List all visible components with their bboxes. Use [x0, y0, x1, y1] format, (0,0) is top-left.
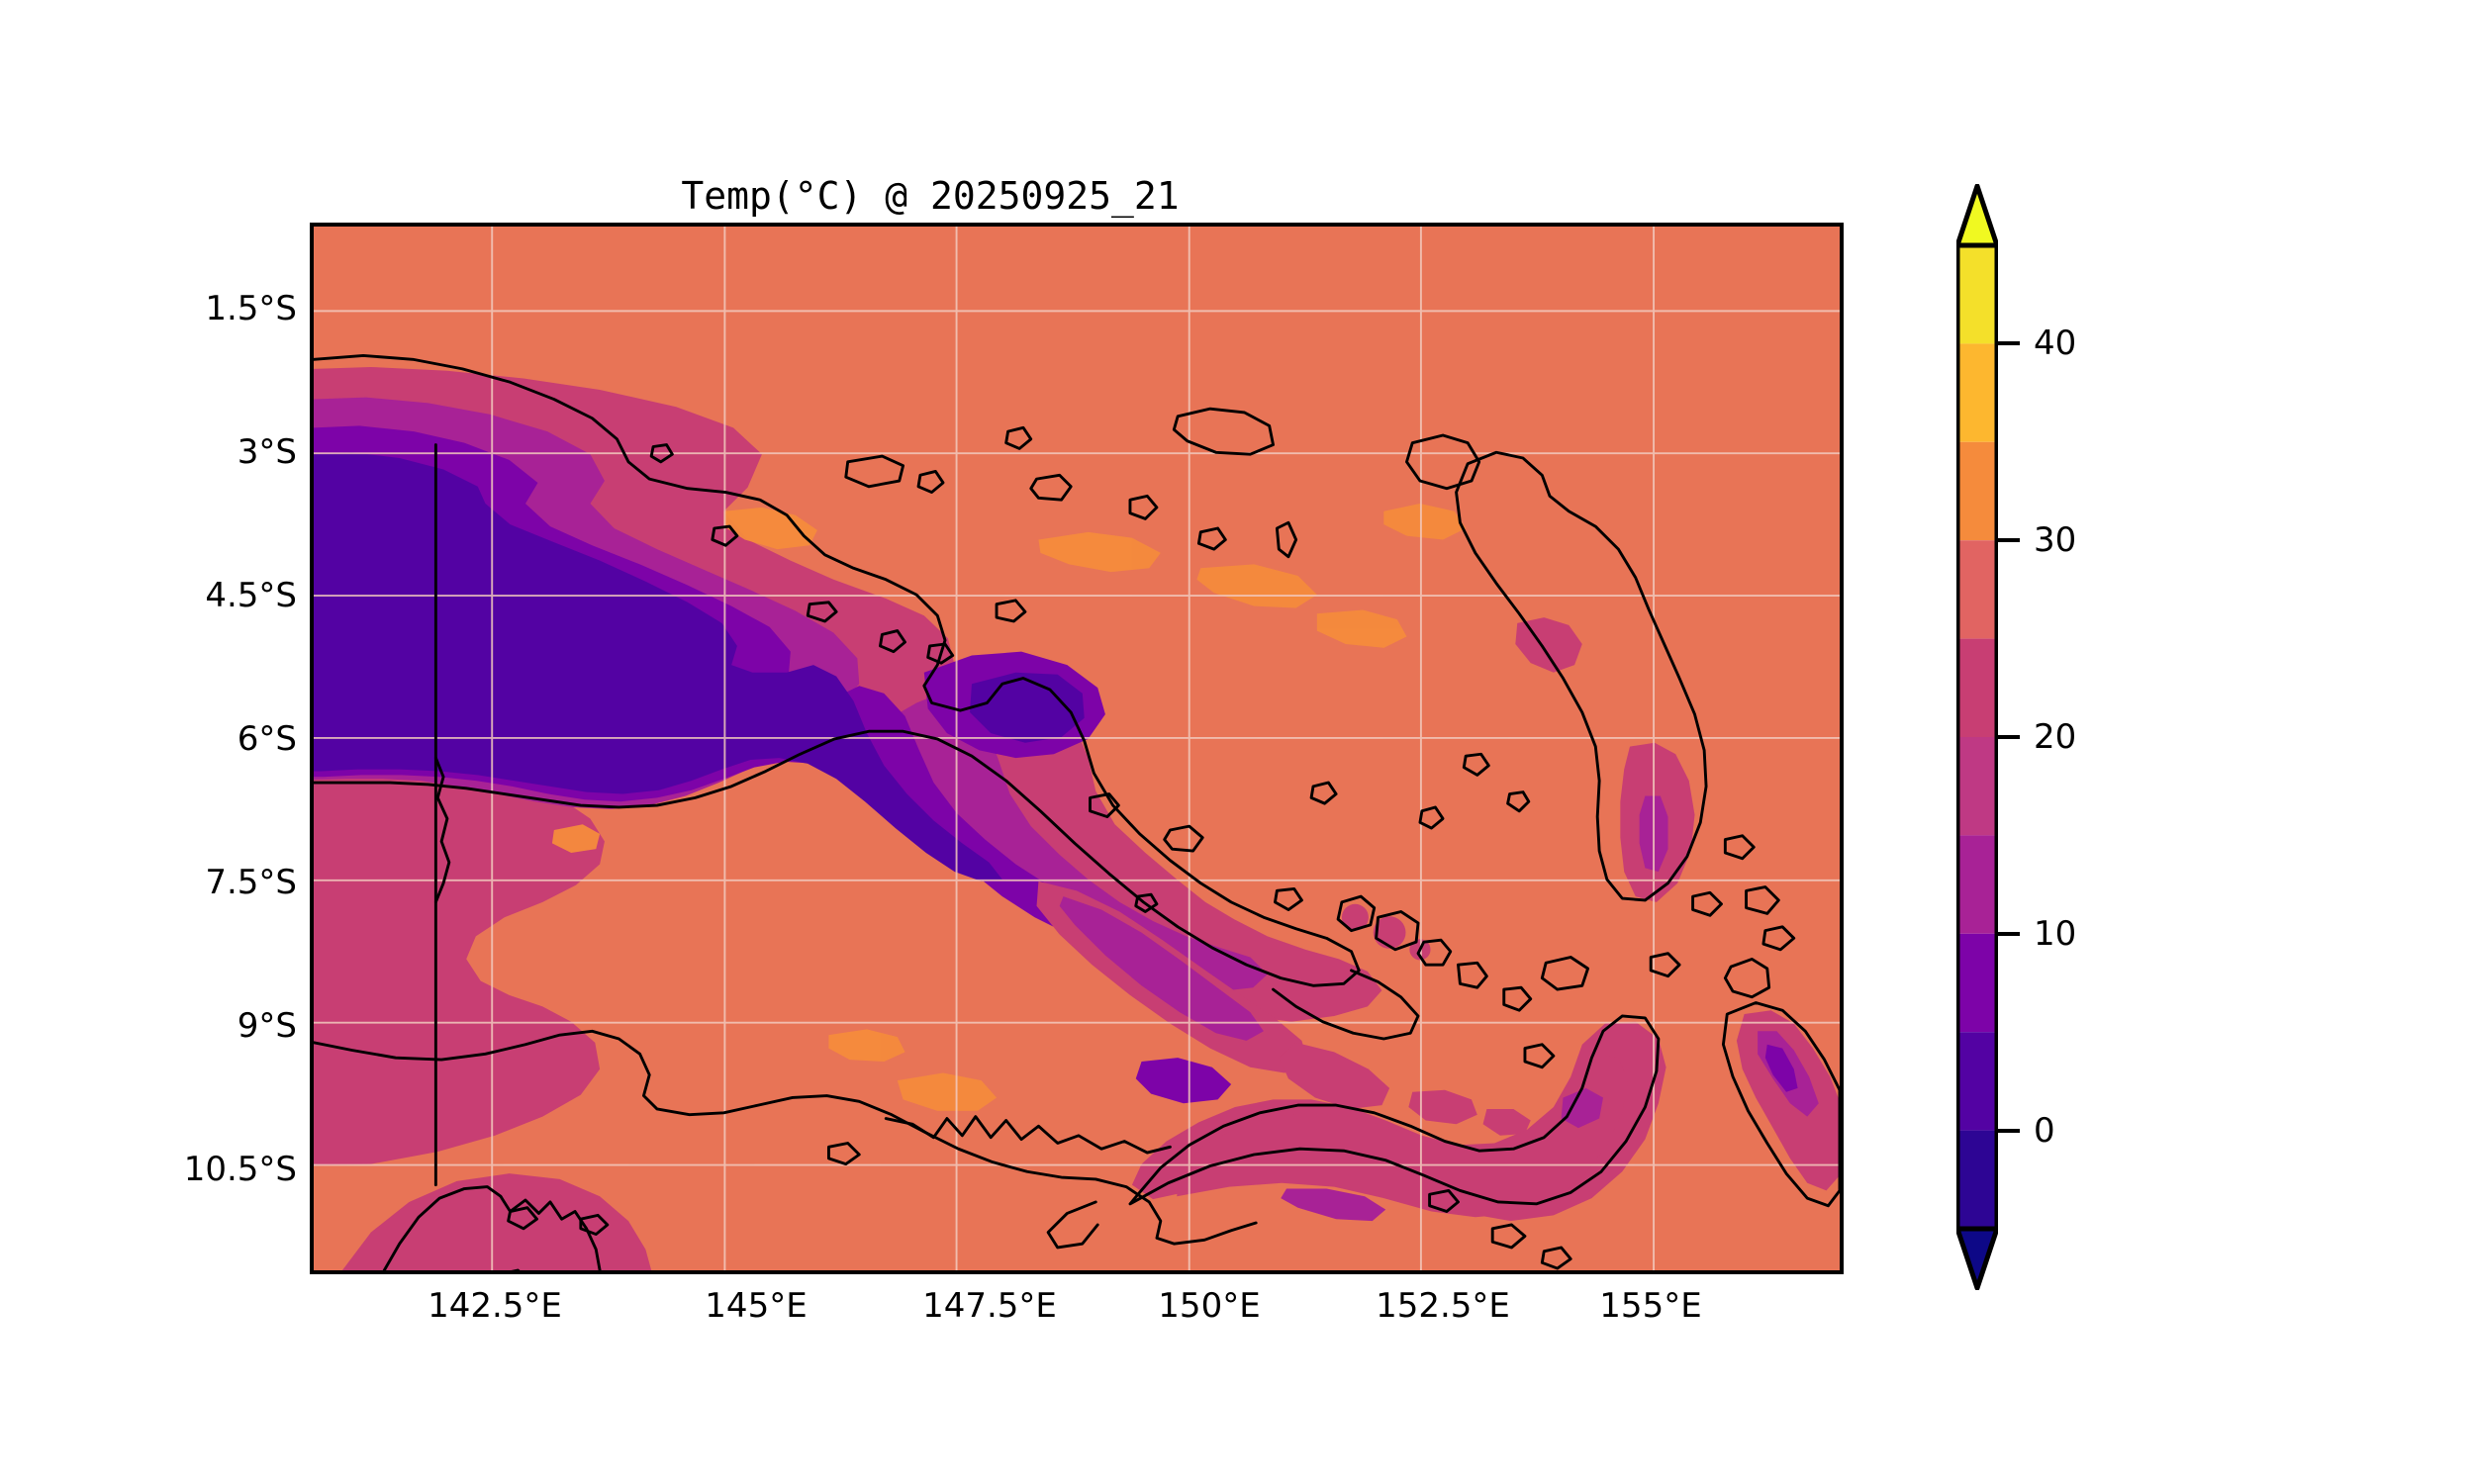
x-tick-label: 142.5°E	[428, 1286, 562, 1326]
colorbar-tick-mark	[1998, 1129, 2020, 1133]
colorbar-tick-mark	[1998, 932, 2020, 936]
colorbar[interactable]	[1956, 184, 1998, 1290]
colorbar-tick-label: 20	[2034, 717, 2076, 757]
colorbar-tick-label: 30	[2034, 520, 2076, 560]
colorbar-under-arrow	[1957, 1229, 1997, 1288]
colorbar-gradient	[1956, 184, 1998, 1290]
y-tick-label: 7.5°S	[0, 863, 297, 902]
colorbar-tick-label: 10	[2034, 914, 2076, 954]
y-tick-label: 1.5°S	[0, 289, 297, 328]
x-tick-label: 155°E	[1599, 1286, 1701, 1326]
colorbar-tick-mark	[1998, 735, 2020, 739]
figure-canvas: Temp(°C) @ 20250925_21 Simulation Time: …	[0, 0, 2474, 1484]
colorbar-tick-label: 0	[2034, 1111, 2055, 1151]
x-tick-label: 145°E	[705, 1286, 807, 1326]
colorbar-tick-mark	[1998, 538, 2020, 542]
y-tick-label: 6°S	[0, 719, 297, 759]
y-tick-label: 3°S	[0, 432, 297, 472]
colorbar-tick-label: 40	[2034, 324, 2076, 363]
colorbar-bands	[1957, 245, 1997, 1229]
x-tick-label: 152.5°E	[1376, 1286, 1510, 1326]
y-tick-label: 9°S	[0, 1006, 297, 1046]
y-tick-label: 10.5°S	[0, 1150, 297, 1189]
x-tick-label: 150°E	[1158, 1286, 1260, 1326]
x-tick-label: 147.5°E	[922, 1286, 1057, 1326]
y-tick-label: 4.5°S	[0, 576, 297, 615]
colorbar-over-arrow	[1957, 186, 1997, 245]
y-axis-labels: 1.5°S 3°S 4.5°S 6°S 7.5°S 9°S 10.5°S	[0, 0, 2474, 1484]
colorbar-tick-mark	[1998, 341, 2020, 345]
